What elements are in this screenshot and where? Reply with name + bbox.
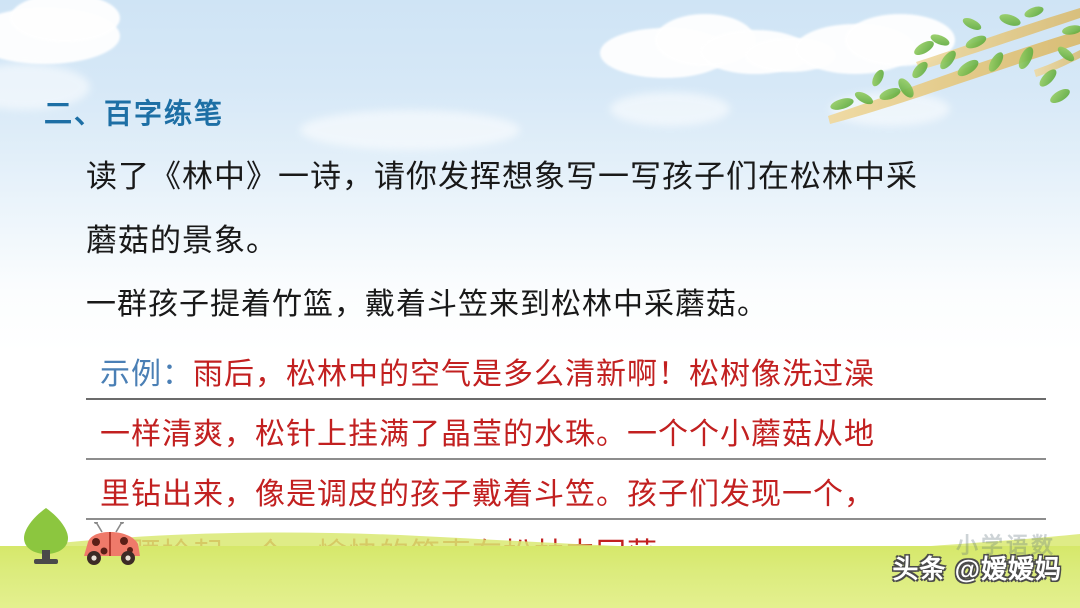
prompt-line: 蘑菇的景象。 (86, 209, 1036, 273)
cloud-shape (610, 92, 730, 126)
example-text-row1: 示例：雨后，松林中的空气是多么清新啊！松树像洗过澡 (100, 360, 875, 390)
example-label: 示例： (100, 358, 193, 391)
example-text-row3: 里钻出来，像是调皮的孩子戴着斗笠。孩子们发现一个， (100, 480, 875, 510)
example-text-row2: 一样清爽，松针上挂满了晶莹的水珠。一个个小蘑菇从地 (100, 420, 875, 450)
prompt-block: 读了《林中》一诗，请你发挥想象写一写孩子们在松林中采 蘑菇的景象。 一群孩子提着… (86, 145, 1036, 337)
prompt-line: 读了《林中》一诗，请你发挥想象写一写孩子们在松林中采 (86, 145, 1036, 209)
example-row: 一样清爽，松针上挂满了晶莹的水珠。一个个小蘑菇从地 (86, 400, 1046, 460)
watermark-main-text: 头条 @嫒嫒妈 (892, 549, 1062, 586)
slide-canvas: 二、百字练笔 读了《林中》一诗，请你发挥想象写一写孩子们在松林中采 蘑菇的景象。… (0, 0, 1080, 608)
example-body: 雨后，松林中的空气是多么清新啊！松树像洗过澡 (193, 358, 875, 391)
ladybug-car-icon (78, 522, 144, 568)
example-row: 里钻出来，像是调皮的孩子戴着斗笠。孩子们发现一个， (86, 460, 1046, 520)
section-heading: 二、百字练笔 (44, 92, 224, 132)
answer-line: 一群孩子提着竹篮，戴着斗笠来到松林中采蘑菇。 (86, 273, 1036, 337)
cloud-shape (300, 110, 520, 150)
watermark: 小学语数 头条 @嫒嫒妈 (866, 528, 1066, 590)
cloud-shape (830, 92, 950, 126)
cloud-shape (845, 14, 955, 66)
example-row: 示例：雨后，松林中的空气是多么清新啊！松树像洗过澡 (86, 340, 1046, 400)
tree-icon (20, 506, 72, 564)
